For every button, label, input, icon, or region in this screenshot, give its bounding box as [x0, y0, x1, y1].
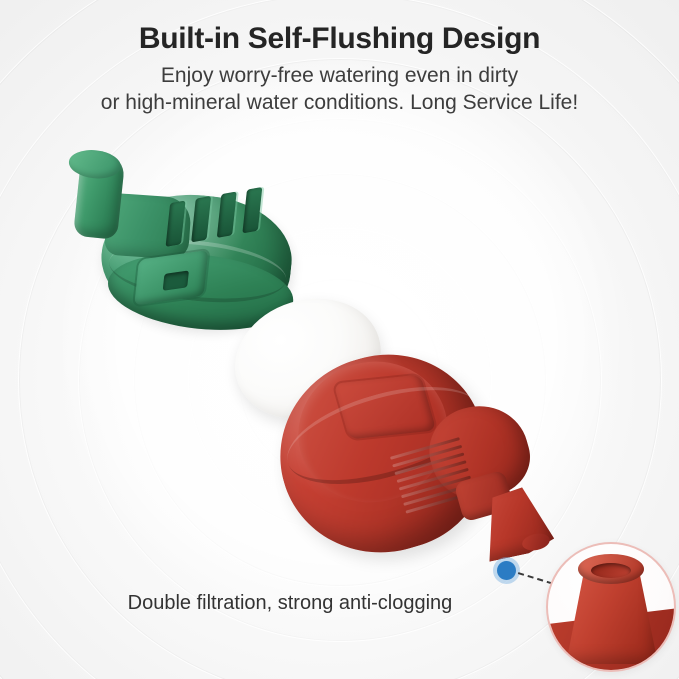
callout-dot-icon: [497, 561, 516, 580]
red-emitter-body: [272, 348, 572, 608]
filter-slot: [242, 187, 262, 233]
subtitle: Enjoy worry-free watering even in dirty …: [0, 62, 679, 116]
page-title: Built-in Self-Flushing Design: [0, 22, 679, 56]
product-feature-image: Built-in Self-Flushing Design Enjoy worr…: [0, 0, 679, 679]
filter-slot: [217, 191, 237, 237]
filter-slot: [191, 196, 211, 242]
feature-caption: Double filtration, strong anti-clogging: [60, 592, 520, 615]
subtitle-line-2: or high-mineral water conditions. Long S…: [0, 89, 679, 116]
magnified-nozzle-outlet-hole: [591, 563, 631, 578]
subtitle-line-1: Enjoy worry-free watering even in dirty: [0, 62, 679, 89]
magnifier-callout: [546, 542, 676, 672]
